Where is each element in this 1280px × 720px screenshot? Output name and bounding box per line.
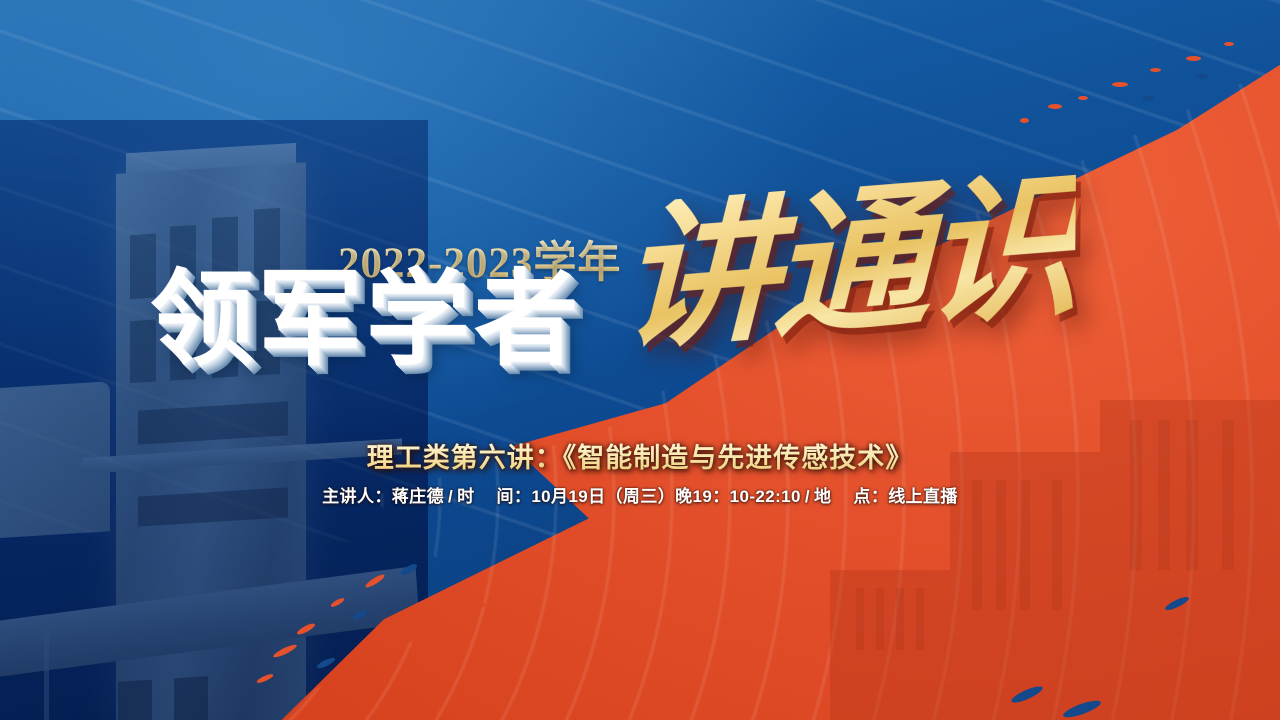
speaker-label: 主讲人： — [322, 487, 392, 506]
info-separator-2: / — [801, 487, 814, 506]
speaker-name: 蒋庄德 — [392, 487, 444, 506]
poster-text-content: 2022-2023学年 领军学者 讲通识 理工类第六讲：《智能制造与先进传感技术… — [0, 0, 1280, 720]
lecture-subtitle: 理工类第六讲：《智能制造与先进传感技术》 — [0, 436, 1280, 475]
poster-headline: 领军学者 — [150, 268, 582, 372]
poster-calligraphy-title: 讲通识 — [620, 168, 1076, 362]
time-label-2: 间： — [497, 487, 532, 506]
info-separator-1: / — [444, 487, 457, 506]
poster-canvas: 2022-2023学年 领军学者 讲通识 理工类第六讲：《智能制造与先进传感技术… — [0, 0, 1280, 720]
place-value: 线上直播 — [888, 487, 958, 506]
place-label: 地 — [814, 487, 831, 506]
time-label: 时 — [457, 487, 474, 506]
lecture-info-line: 主讲人：蒋庄德/时间：10月19日（周三）晚19：10-22:10/地点：线上直… — [0, 482, 1280, 507]
place-label-2: 点： — [853, 487, 888, 506]
time-value: 10月19日（周三）晚19：10-22:10 — [531, 487, 801, 506]
